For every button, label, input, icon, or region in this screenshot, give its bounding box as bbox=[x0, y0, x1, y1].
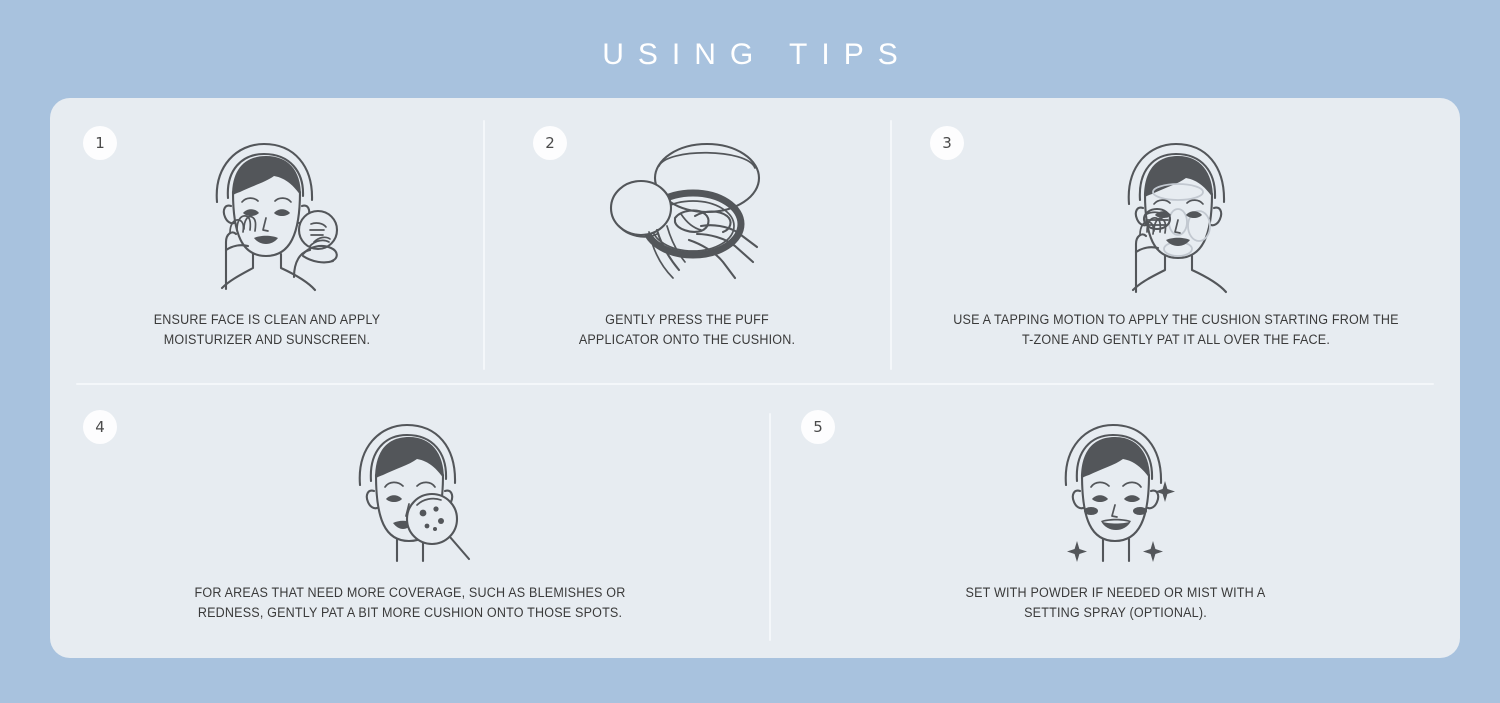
step-2-caption-line-1: GENTLY PRESS THE PUFF bbox=[499, 310, 875, 330]
steps-card: 1 bbox=[50, 98, 1460, 658]
step-3-caption: USE A TAPPING MOTION TO APPLY THE CUSHIO… bbox=[912, 310, 1440, 350]
step-2-illustration bbox=[485, 134, 889, 294]
step-4-caption-line-1: FOR AREAS THAT NEED MORE COVERAGE, SUCH … bbox=[75, 583, 745, 603]
step-1-caption-line-1: ENSURE FACE IS CLEAN AND APPLY bbox=[65, 310, 469, 330]
step-4-cell[interactable]: 4 bbox=[50, 385, 770, 658]
page-title: USING TIPS bbox=[0, 38, 1500, 72]
step-2-cell[interactable]: 2 bbox=[485, 98, 889, 383]
steps-row-top: 1 bbox=[50, 98, 1460, 383]
step-3-illustration bbox=[892, 134, 1460, 294]
step-4-illustration bbox=[50, 419, 770, 569]
step-1-caption: ENSURE FACE IS CLEAN AND APPLY MOISTURIZ… bbox=[65, 310, 469, 350]
step-5-illustration bbox=[771, 419, 1460, 569]
step-1-caption-line-2: MOISTURIZER AND SUNSCREEN. bbox=[65, 330, 469, 350]
step-5-caption-line-2: SETTING SPRAY (OPTIONAL). bbox=[795, 603, 1436, 623]
step-1-illustration bbox=[50, 134, 484, 294]
step-1-cell[interactable]: 1 bbox=[50, 98, 484, 383]
step-3-caption-line-2: T-ZONE AND GENTLY PAT IT ALL OVER THE FA… bbox=[912, 330, 1440, 350]
step-5-cell[interactable]: 5 bbox=[771, 385, 1460, 658]
steps-row-bottom: 4 bbox=[50, 385, 1460, 658]
step-3-cell[interactable]: 3 bbox=[892, 98, 1460, 383]
step-5-caption: SET WITH POWDER IF NEEDED OR MIST WITH A… bbox=[795, 583, 1436, 623]
step-3-caption-line-1: USE A TAPPING MOTION TO APPLY THE CUSHIO… bbox=[912, 310, 1440, 330]
using-tips-page: USING TIPS 1 bbox=[0, 0, 1500, 703]
step-4-caption: FOR AREAS THAT NEED MORE COVERAGE, SUCH … bbox=[75, 583, 745, 623]
step-2-caption-line-2: APPLICATOR ONTO THE CUSHION. bbox=[499, 330, 875, 350]
step-4-caption-line-2: REDNESS, GENTLY PAT A BIT MORE CUSHION O… bbox=[75, 603, 745, 623]
step-5-caption-line-1: SET WITH POWDER IF NEEDED OR MIST WITH A bbox=[795, 583, 1436, 603]
step-2-caption: GENTLY PRESS THE PUFF APPLICATOR ONTO TH… bbox=[499, 310, 875, 350]
